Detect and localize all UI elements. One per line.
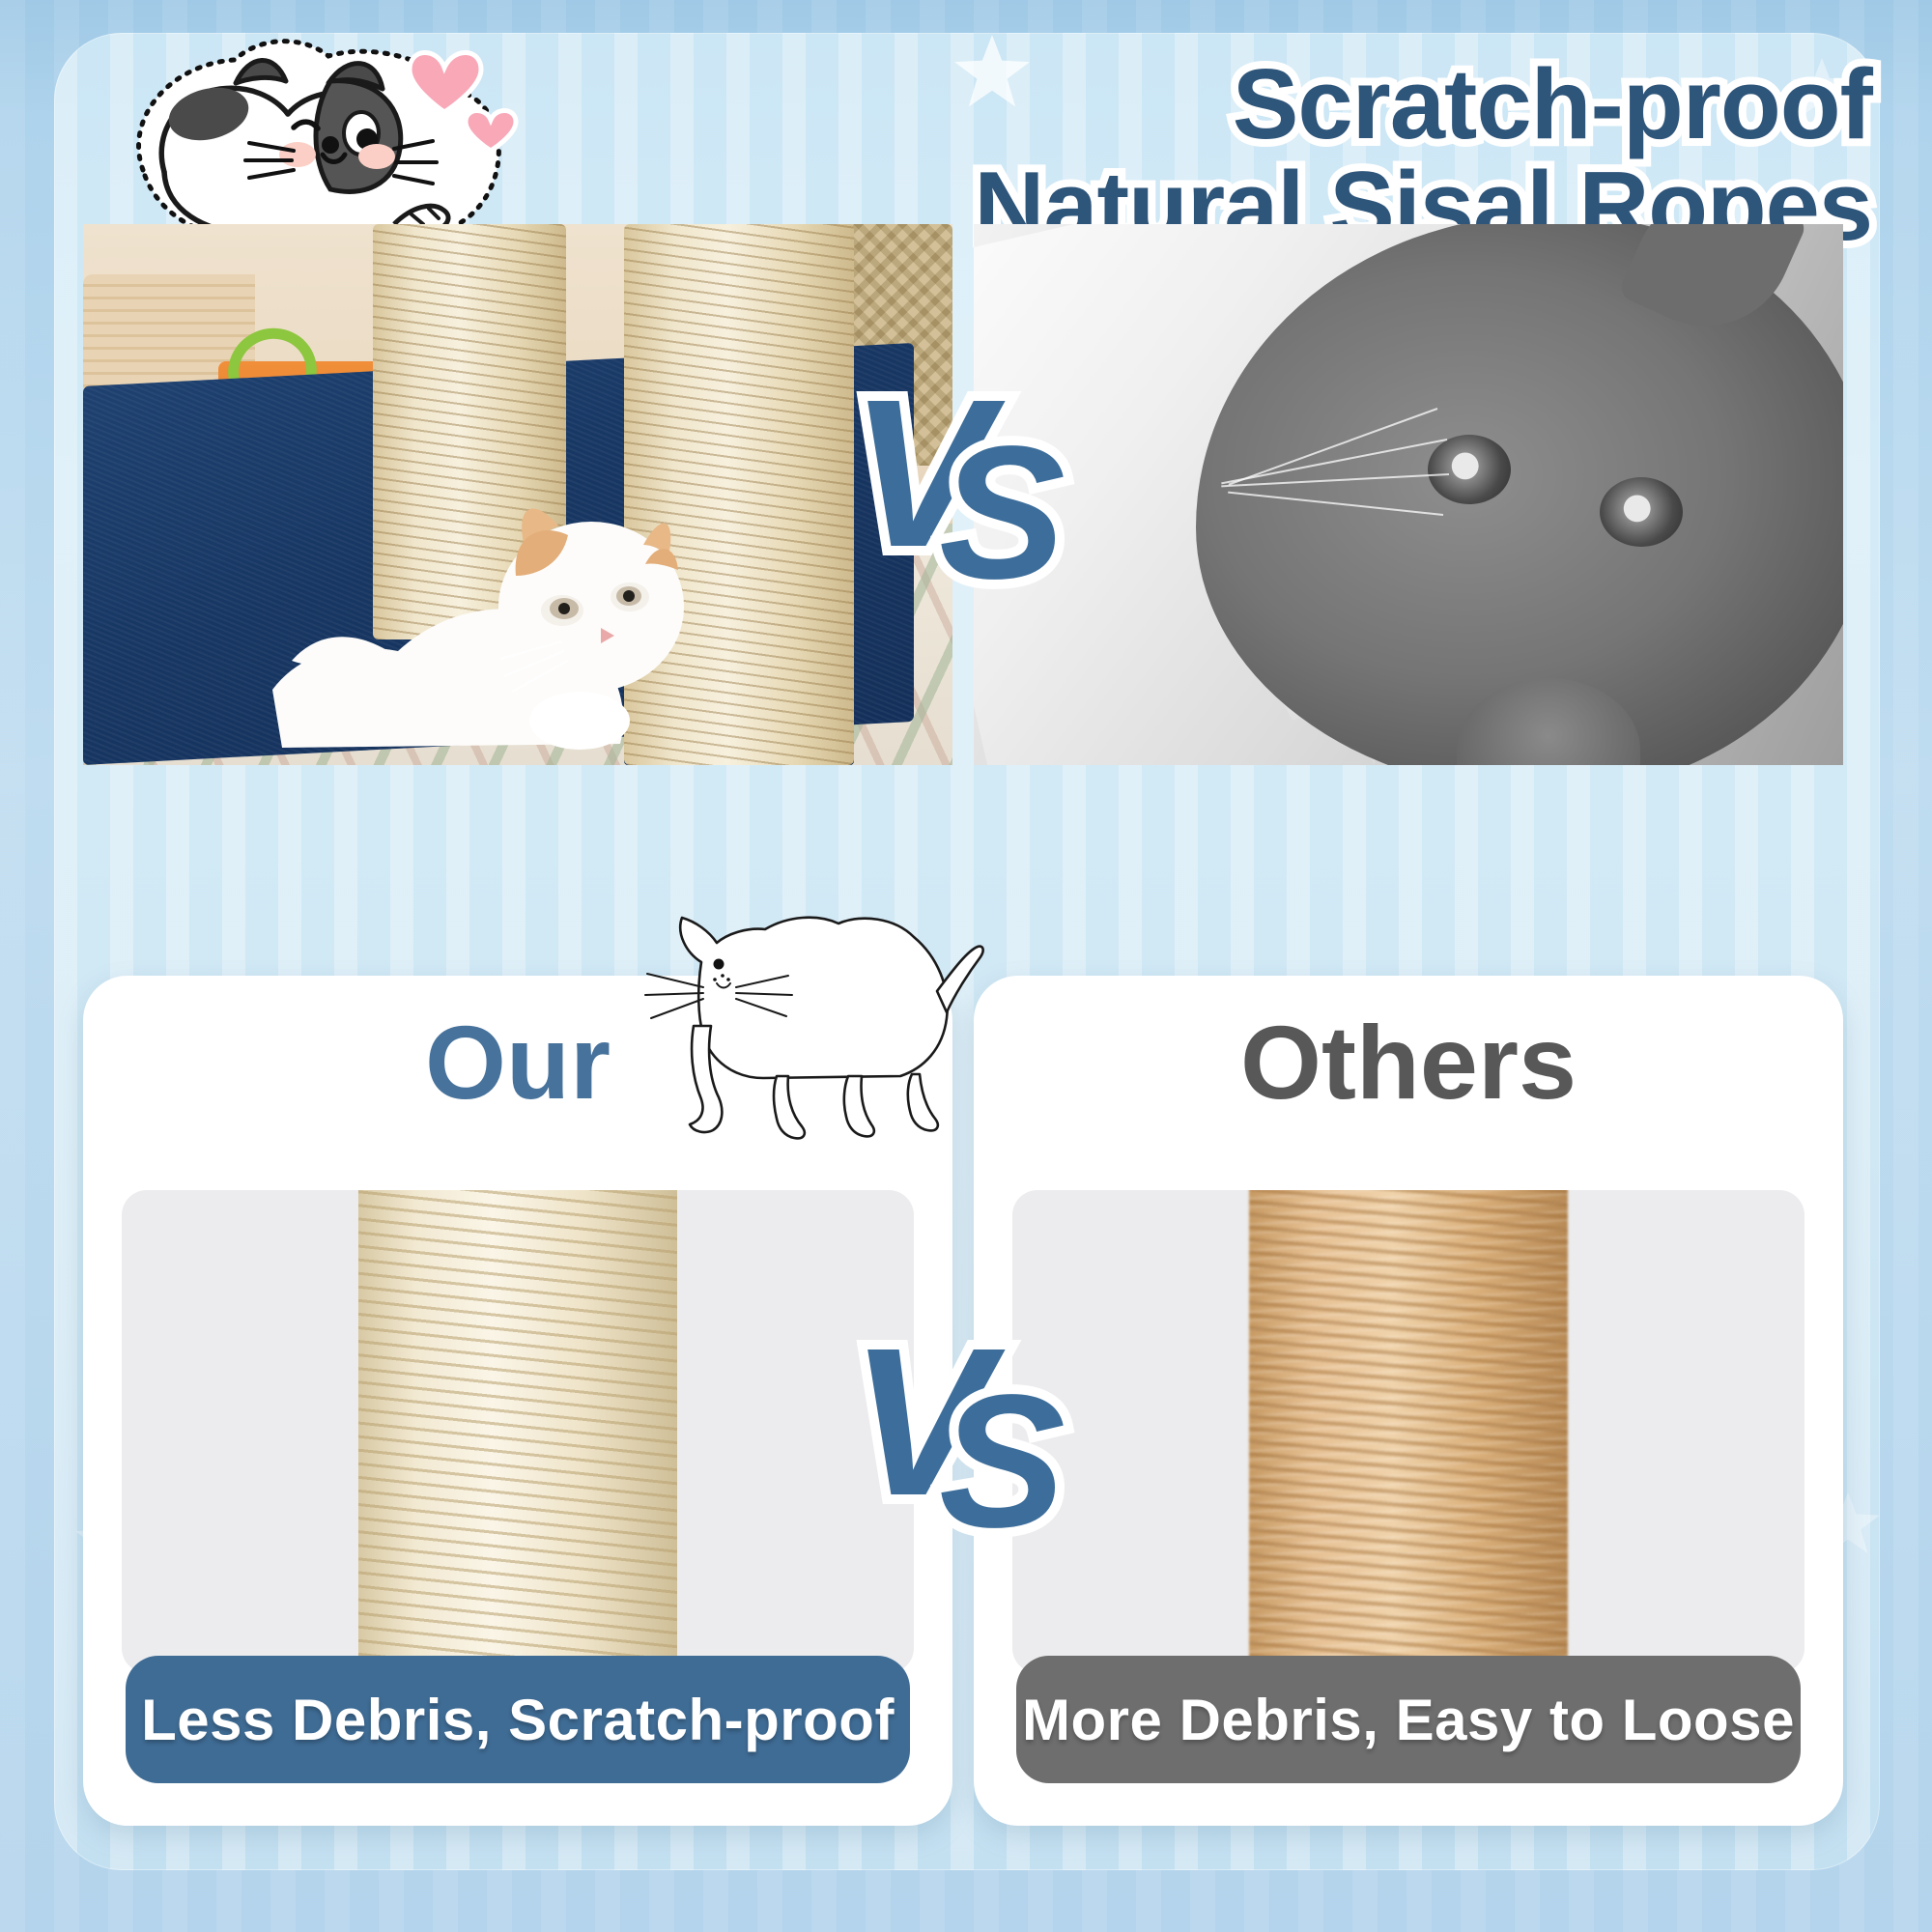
photo-our-product bbox=[83, 224, 952, 765]
cat-eye-right bbox=[1600, 477, 1683, 547]
infographic-canvas: Scratch-proof Natural Sisal Ropes bbox=[0, 0, 1932, 1932]
sisal-rope-good bbox=[358, 1190, 677, 1673]
photo-others-rope bbox=[1012, 1190, 1804, 1673]
photo-our-rope bbox=[122, 1190, 914, 1673]
vs-letter-s: S bbox=[939, 404, 1065, 621]
photo-others-damage bbox=[974, 224, 1843, 765]
vs-badge-top: V S bbox=[850, 386, 1072, 609]
title-line-1: Scratch-proof bbox=[732, 56, 1872, 154]
label-text-our: Less Debris, Scratch-proof bbox=[141, 1687, 895, 1753]
walking-cat-line-art-icon bbox=[618, 898, 985, 1140]
kitten-photo-subject bbox=[272, 462, 726, 752]
lying-cat-sticker-icon bbox=[104, 25, 520, 257]
label-bar-our: Less Debris, Scratch-proof bbox=[126, 1656, 910, 1783]
label-bar-others: More Debris, Easy to Loose bbox=[1016, 1656, 1801, 1783]
comparison-card-others: Others More Debris, Easy to Loose bbox=[974, 976, 1843, 1826]
vs-letter-s: S bbox=[939, 1352, 1065, 1570]
label-text-others: More Debris, Easy to Loose bbox=[1022, 1687, 1795, 1753]
card-title-others: Others bbox=[974, 1010, 1843, 1115]
sisal-rope-bad bbox=[1249, 1190, 1568, 1673]
vs-badge-bottom: V S bbox=[850, 1335, 1072, 1557]
cat-eye-left bbox=[1428, 435, 1511, 504]
